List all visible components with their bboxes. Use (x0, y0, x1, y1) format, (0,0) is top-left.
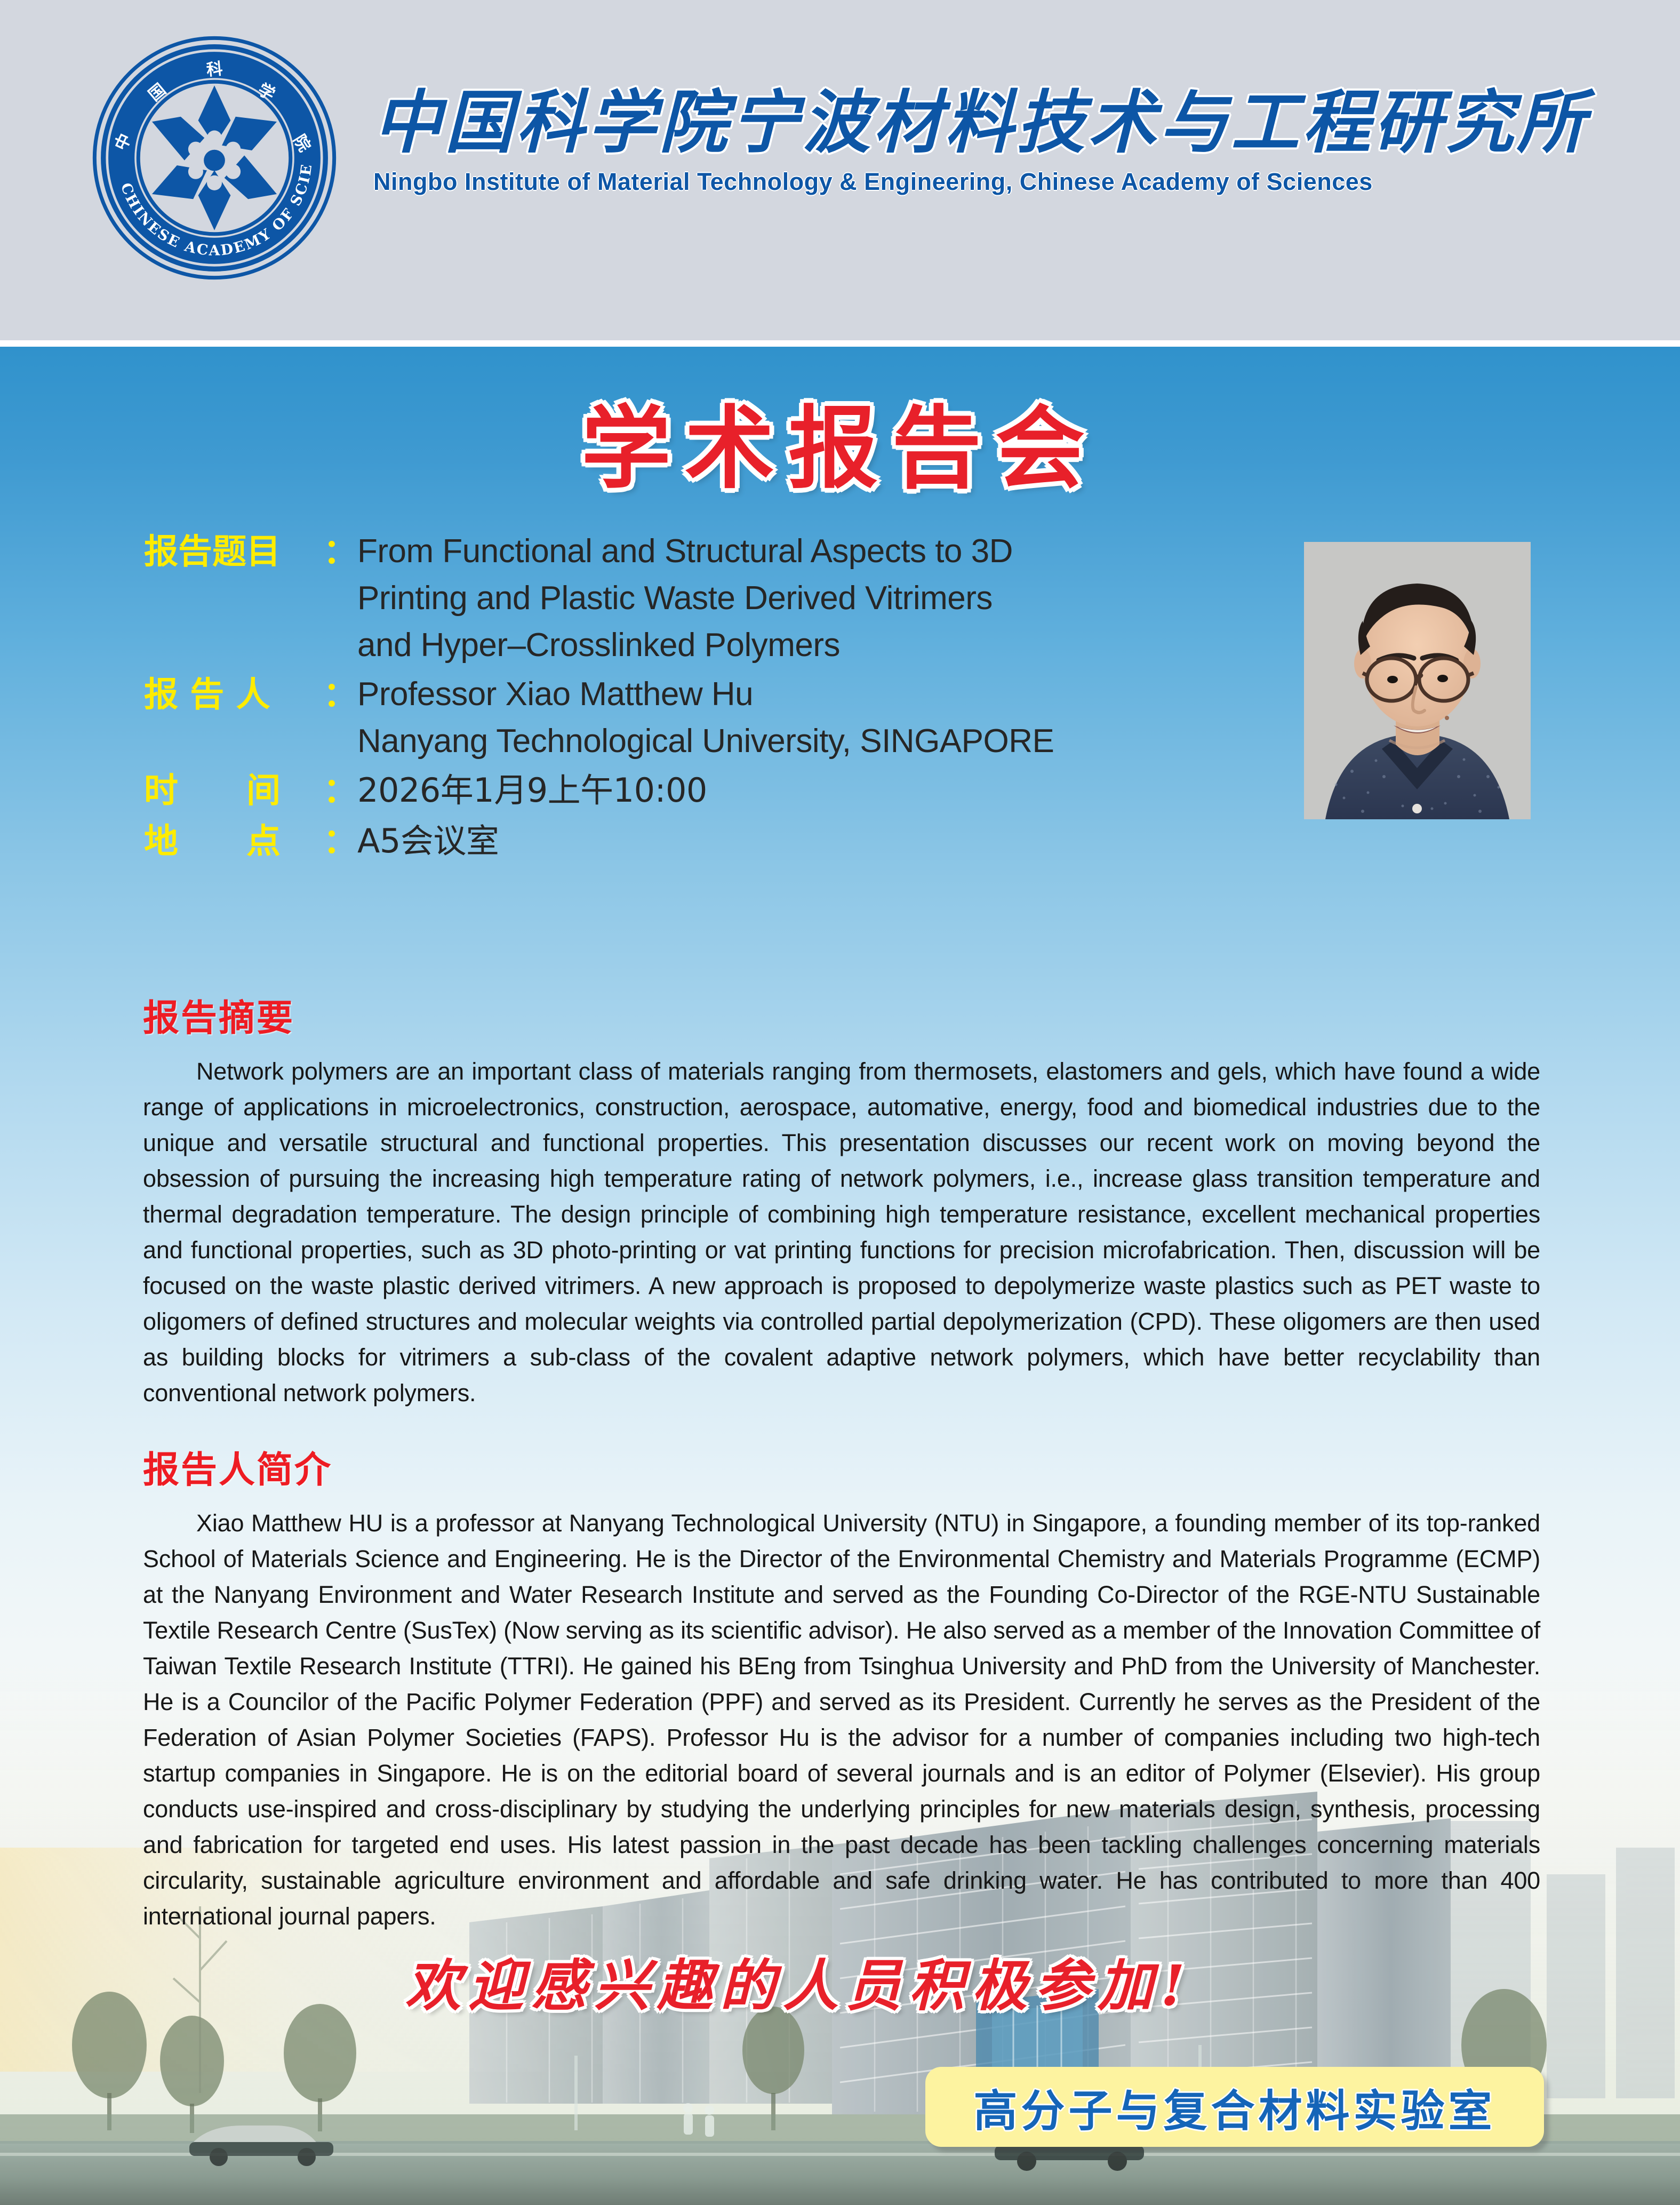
time-line-1: 2026年1月9上午10:00 (357, 767, 1285, 814)
institute-name-en: Ningbo Institute of Material Technology … (373, 168, 1611, 196)
info-row-time: 时 间 ： 2026年1月9上午10:00 (144, 767, 1285, 816)
info-value-time: 2026年1月9上午10:00 (357, 767, 1285, 814)
biography-paragraph: Xiao Matthew HU is a professor at Nanyan… (143, 1505, 1540, 1934)
speaker-line-2: Nanyang Technological University, SINGAP… (357, 718, 1285, 765)
abstract-heading: 报告摘要 (143, 988, 294, 1041)
lab-name-banner: 高分子与复合材料实验室 (925, 2067, 1544, 2147)
lab-name-text: 高分子与复合材料实验室 (973, 2075, 1495, 2139)
venue-line-1: A5会议室 (357, 818, 1285, 865)
speaker-line-1: Professor Xiao Matthew Hu (357, 671, 1285, 718)
cas-logo-icon: 中 国 科 学 院 CHINESE ACADEMY OF SCIENCES (90, 33, 339, 283)
info-label-venue: 地 点 ： (144, 818, 357, 866)
topic-line-3: and Hyper–Crosslinked Polymers (357, 622, 1285, 669)
speaker-portrait-photo (1304, 542, 1531, 819)
info-label-topic-colon: ： (323, 528, 357, 577)
poster-main-title: 学术报告会 (0, 376, 1680, 506)
info-value-topic: From Functional and Structural Aspects t… (357, 528, 1285, 669)
topic-line-2: Printing and Plastic Waste Derived Vitri… (357, 575, 1285, 622)
info-label-speaker-chars: 报 告 人 (144, 671, 270, 720)
info-row-venue: 地 点 ： A5会议室 (144, 818, 1285, 866)
svg-text:科: 科 (206, 59, 223, 80)
info-label-venue-colon: ： (323, 818, 357, 866)
info-label-topic-chars: 报告题目 (144, 528, 281, 577)
abstract-paragraph: Network polymers are an important class … (143, 1053, 1540, 1411)
info-row-topic: 报告题目 ： From Functional and Structural As… (144, 528, 1285, 669)
info-label-time-chars: 时 间 (144, 767, 281, 816)
topic-line-1: From Functional and Structural Aspects t… (357, 528, 1285, 575)
institute-name-block: 中国科学院宁波材料技术与工程研究所 Ningbo Institute of Ma… (373, 85, 1611, 196)
biography-heading: 报告人简介 (143, 1440, 332, 1493)
poster-header: 中 国 科 学 院 CHINESE ACADEMY OF SCIENCES 中国… (0, 0, 1680, 343)
seminar-poster: 中 国 科 学 院 CHINESE ACADEMY OF SCIENCES 中国… (0, 0, 1680, 2205)
info-value-venue: A5会议室 (357, 818, 1285, 865)
info-label-time-colon: ： (323, 767, 357, 816)
info-label-speaker: 报 告 人 ： (144, 671, 357, 720)
welcome-message: 欢迎感兴趣的人员积极参加! (405, 1940, 1193, 2021)
info-label-speaker-colon: ： (323, 671, 357, 720)
info-label-time: 时 间 ： (144, 767, 357, 816)
institute-name-cn: 中国科学院宁波材料技术与工程研究所 (373, 85, 1611, 161)
seminar-info-block: 报告题目 ： From Functional and Structural As… (144, 528, 1285, 868)
info-row-speaker: 报 告 人 ： Professor Xiao Matthew Hu Nanyan… (144, 671, 1285, 765)
info-label-venue-chars: 地 点 (144, 818, 281, 866)
info-label-topic: 报告题目 ： (144, 528, 357, 577)
info-value-speaker: Professor Xiao Matthew Hu Nanyang Techno… (357, 671, 1285, 765)
